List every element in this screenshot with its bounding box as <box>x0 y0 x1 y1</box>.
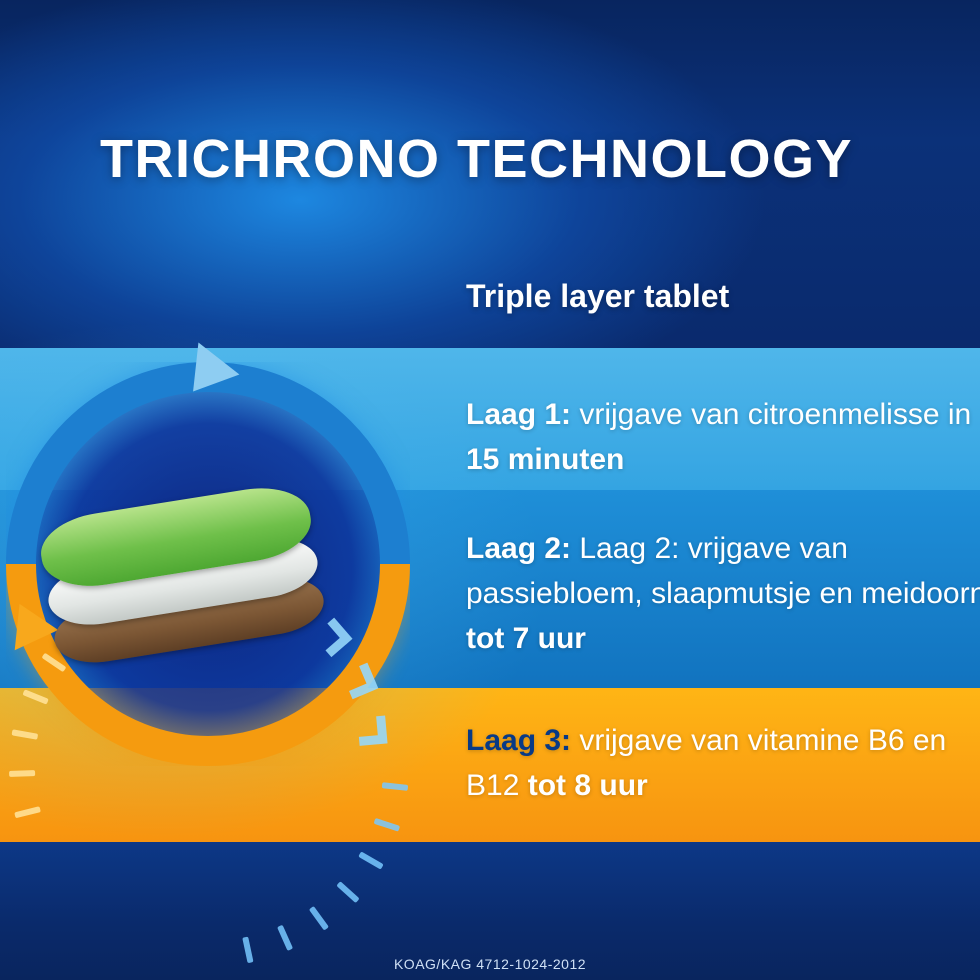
layer-1-text: vrijgave van citroenmelisse in <box>571 398 971 431</box>
tick-mark <box>12 729 39 739</box>
layer-1-emphasis: 15 minuten <box>466 443 624 476</box>
regulatory-code: KOAG/KAG 4712-1024-2012 <box>0 956 980 972</box>
page-subtitle: Triple layer tablet <box>466 278 729 315</box>
layer-2-emphasis: tot 7 uur <box>466 622 586 655</box>
trichrono-diagram <box>0 352 424 782</box>
layer-2-description: Laag 2: Laag 2: vrijgave van passiebloem… <box>466 526 980 661</box>
tick-mark <box>22 689 48 704</box>
chevron-icon <box>357 716 387 746</box>
tick-mark <box>9 770 35 777</box>
layer-3-label: Laag 3: <box>466 724 571 757</box>
layer-1-description: Laag 1: vrijgave van citroenmelisse in 1… <box>466 392 980 482</box>
layer-3-description: Laag 3: vrijgave van vitamine B6 en B12 … <box>466 718 980 808</box>
promo-graphic: TRICHRONO TECHNOLOGY Triple layer tablet <box>0 0 980 980</box>
layer-1-label: Laag 1: <box>466 398 571 431</box>
page-title: TRICHRONO TECHNOLOGY <box>100 128 853 190</box>
layer-2-label: Laag 2: <box>466 532 571 565</box>
layer-3-emphasis: tot 8 uur <box>528 769 648 802</box>
